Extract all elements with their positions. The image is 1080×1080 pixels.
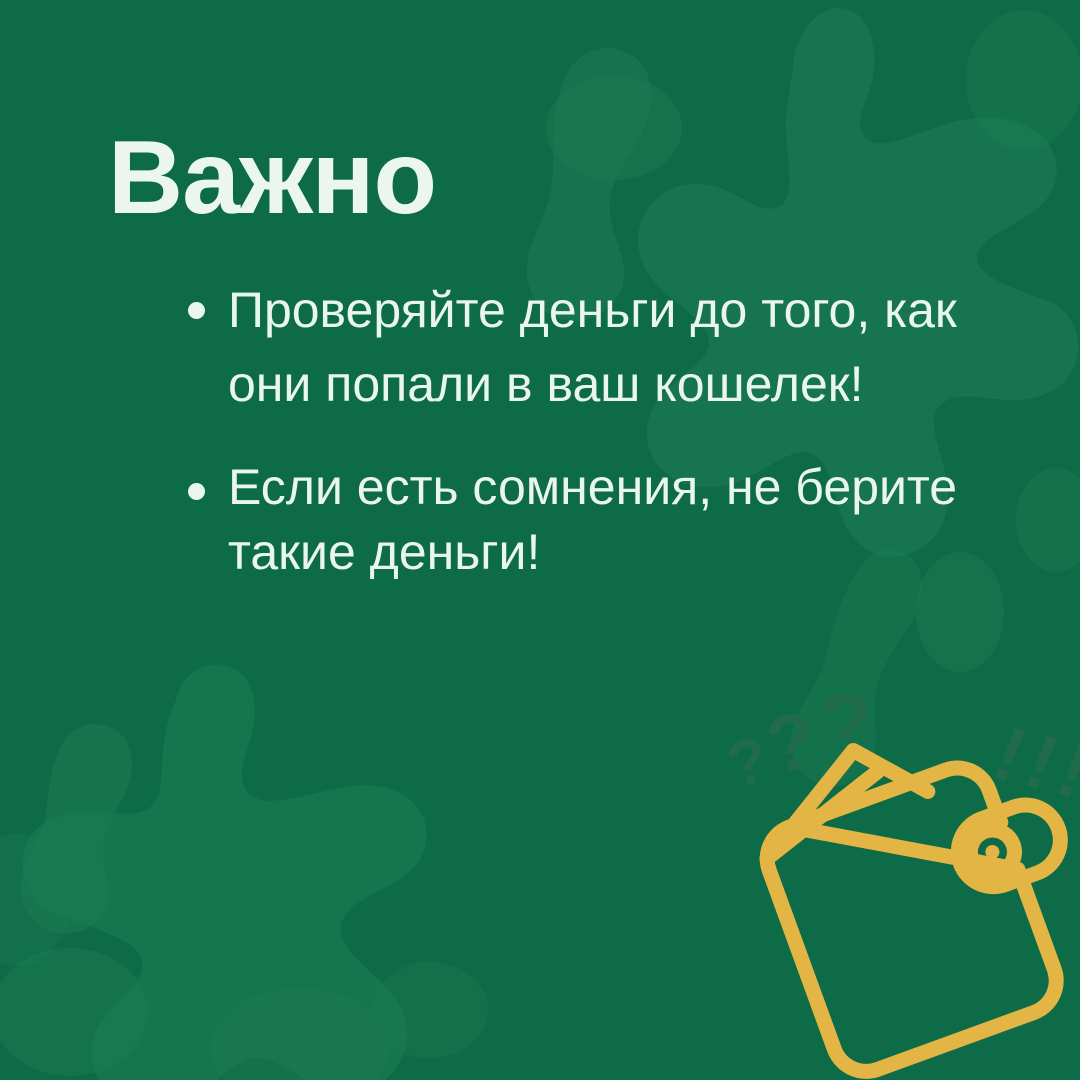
list-item-label: Если есть сомнения, не берите такие день…: [228, 455, 1006, 585]
list-item: Проверяйте деньги до того, как они попал…: [176, 274, 1006, 421]
bullet-list: Проверяйте деньги до того, как они попал…: [176, 274, 1006, 585]
list-item-label: Проверяйте деньги до того, как они попал…: [228, 274, 1006, 421]
bullet-dot-icon: [188, 483, 205, 500]
page-title: Важно: [108, 126, 436, 230]
list-item: Если есть сомнения, не берите такие день…: [176, 455, 1006, 585]
wallet-with-card-icon: ? ? ? ! ! !: [720, 660, 1080, 1080]
splatter-bottom-left: [0, 664, 488, 1080]
poster-canvas: Важно Проверяйте деньги до того, как они…: [0, 0, 1080, 1080]
bullet-dot-icon: [188, 302, 205, 319]
